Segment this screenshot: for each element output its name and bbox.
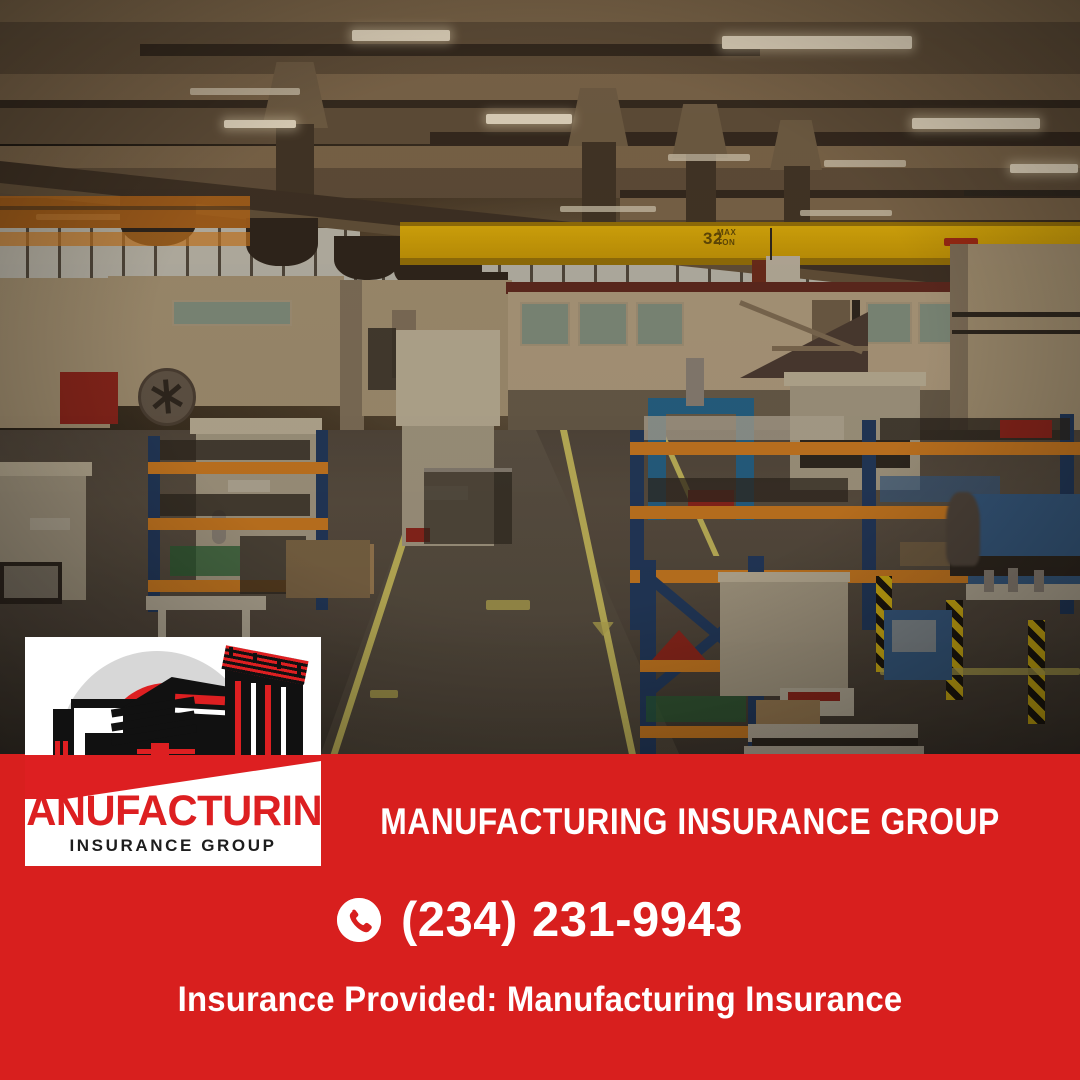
right-wall-shadow	[950, 244, 968, 444]
press-machine-right-tall-top	[784, 372, 926, 386]
logo-tower-mast-2	[253, 653, 257, 663]
secondary-crane-truss	[0, 206, 250, 210]
machine-label-a	[228, 480, 270, 492]
office-landing-rail	[772, 346, 868, 351]
rack-contents-l3	[170, 546, 240, 576]
machine-label-b	[30, 518, 70, 530]
brand-title: MANUFACTURING INSURANCE GROUP	[380, 795, 999, 849]
press-machine-left-b-top	[0, 462, 92, 476]
office-window-2	[578, 302, 628, 346]
rack-bin-red	[1000, 420, 1052, 438]
phone-icon[interactable]	[337, 898, 381, 942]
worker-figure	[946, 492, 980, 566]
rack-contents-l2	[160, 494, 310, 516]
crane-capacity-unit-max: MAX	[717, 228, 736, 237]
logo-tower-stripe-4	[281, 687, 286, 761]
office-window-5	[918, 302, 954, 344]
workbench-right-part-2	[1008, 568, 1018, 592]
rack-contents-r3	[648, 478, 848, 502]
logo-tower-mast-4	[297, 665, 301, 675]
right-pipe-run	[952, 312, 1080, 317]
back-wall-window	[172, 300, 292, 326]
rack-beam-r1	[630, 442, 1080, 455]
crane-capacity-unit-ton: TON	[717, 238, 735, 247]
logo-tower-stripe-1	[235, 681, 241, 761]
logo-tower-stripe-3	[265, 685, 271, 761]
cardboard-box	[756, 700, 820, 726]
hopper-2	[246, 218, 318, 266]
rack-contents-l1	[160, 440, 310, 460]
press-machine-left-a-top	[190, 418, 322, 434]
mesh-cage-left-frame	[424, 468, 512, 472]
logo-tower-mast-3	[277, 659, 281, 669]
office-window-4	[866, 302, 912, 344]
back-stair-flight	[368, 328, 396, 390]
workbench-right-part-1	[984, 570, 994, 592]
rack-frame-content	[646, 696, 746, 722]
office-window-1	[520, 302, 570, 346]
back-wall-divider	[340, 280, 364, 440]
social-media-card: 32 MAX TON	[0, 0, 1080, 1080]
logo-wordmark: MANUFACTURING	[25, 787, 321, 835]
press-machine-center-top	[396, 330, 500, 426]
wall-banner-red	[60, 372, 118, 424]
phone-number[interactable]: (234) 231-9943	[401, 892, 743, 948]
white-cabinet-top	[718, 572, 850, 582]
rack-beam-l2	[148, 518, 328, 530]
office-window-3	[636, 302, 684, 346]
rack-frame-shelf-2	[640, 726, 764, 738]
logo-mark	[25, 637, 321, 761]
rack-beam-l1	[148, 462, 328, 474]
workbench-right-part-3	[1034, 570, 1044, 592]
company-logo-card: MANUFACTURING INSURANCE GROUP	[25, 637, 321, 866]
right-pipe-run-2	[952, 330, 1080, 334]
logo-tower-mast-1	[229, 647, 233, 657]
monitor-screen-left	[4, 566, 58, 598]
right-mezzanine-rail	[964, 190, 1080, 196]
white-cabinet-foreground	[720, 578, 848, 696]
floor-marking-forklift	[486, 600, 530, 610]
insurance-provided-line: Insurance Provided: Manufacturing Insura…	[32, 974, 1047, 1026]
crane-hoist-cable	[770, 228, 772, 260]
cage-trolley-right	[286, 540, 370, 598]
blue-cabinet-panel	[892, 620, 936, 652]
blue-press-ram	[686, 358, 704, 406]
secondary-crane-lower	[0, 232, 250, 246]
mesh-cage-left	[424, 468, 512, 544]
logo-subtitle: INSURANCE GROUP	[25, 833, 321, 859]
phone-row[interactable]: (234) 231-9943	[0, 888, 1080, 952]
hopper-3	[334, 236, 400, 280]
logo-tower-stripe-2	[251, 683, 256, 761]
rack-contents-r1	[644, 416, 844, 440]
secondary-crane-girder	[0, 196, 250, 228]
floor-marking-patch-b	[370, 690, 398, 698]
